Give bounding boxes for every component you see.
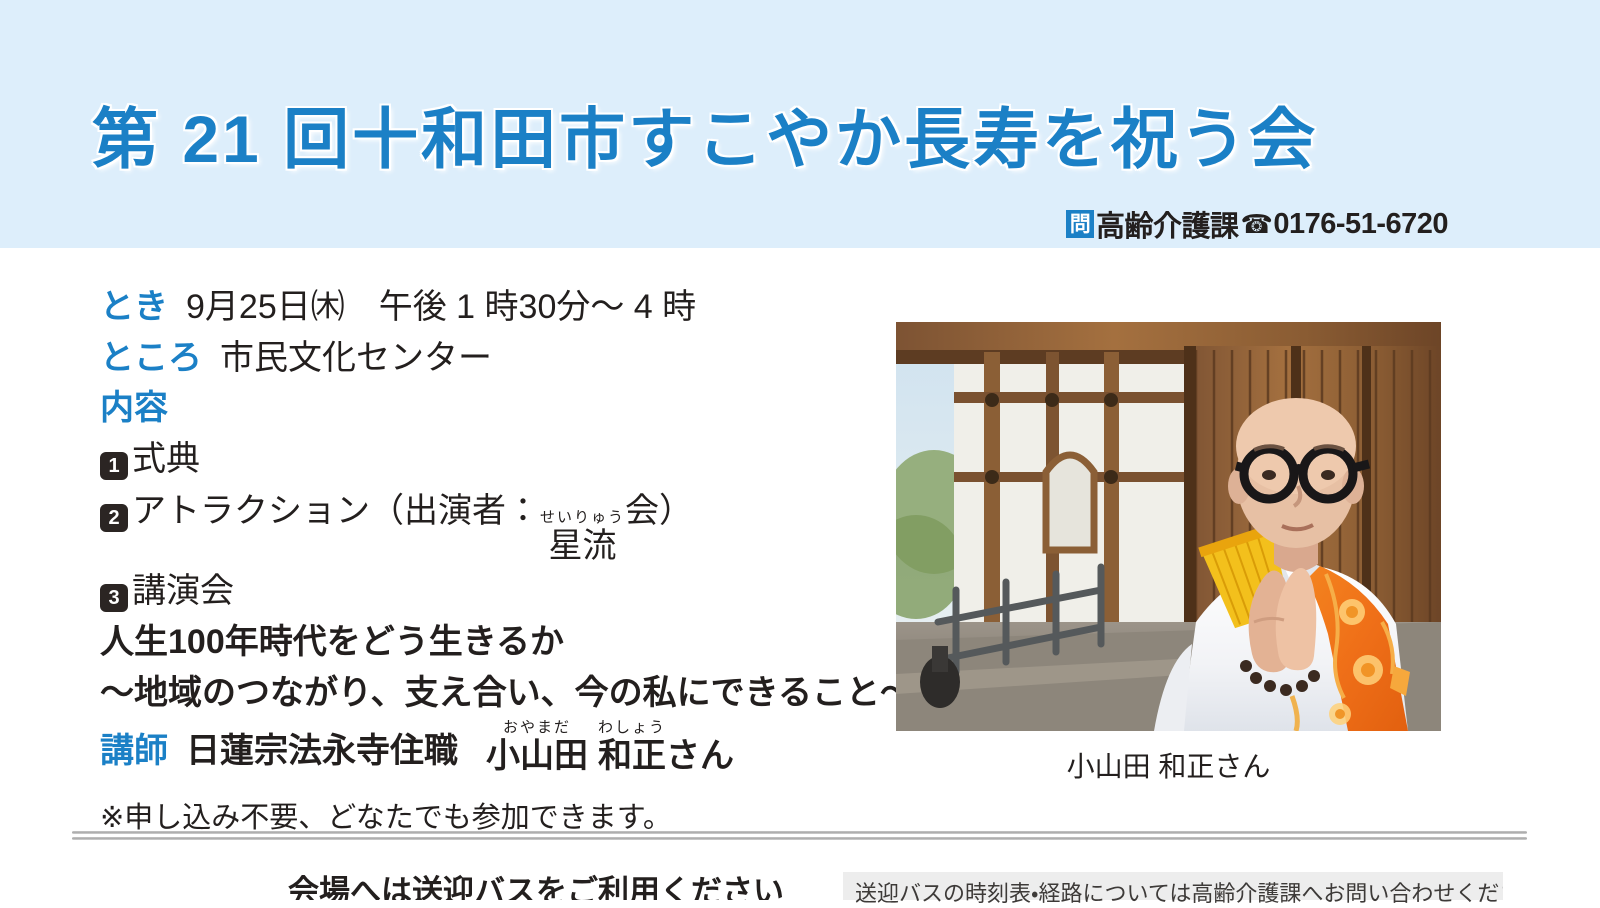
speaker-photo <box>896 322 1441 731</box>
where-label: ところ <box>100 333 202 384</box>
program-item-3: 3 講演会 <box>100 566 890 618</box>
number-badge-3: 3 <box>100 584 128 612</box>
speaker-label: 講師 <box>100 727 168 776</box>
speaker-affiliation: 日蓮宗法永寺住職 <box>186 727 458 776</box>
speaker-givenname-group: わしょう 和正 <box>598 720 666 776</box>
shuttle-bus-heading: 会場へは送迎バスをご利用ください <box>288 866 784 900</box>
number-badge-2: 2 <box>100 504 128 532</box>
bottom-info-panel-text: 送迎バスの時刻表・経路については高齢介護課へお問い合わせください <box>843 872 1503 908</box>
divider-rule-top <box>72 831 1527 834</box>
header-band: 第 21 回十和田市すこやか長寿を祝う会 問 高齢介護課 ☎ 0176-51-6… <box>0 0 1600 248</box>
program-item-3-text: 講演会 <box>132 566 234 618</box>
page-title: 第 21 回十和田市すこやか長寿を祝う会 <box>92 86 1318 182</box>
program-item-2: 2 アトラクション（出演者： せいりゅう 星流 会） <box>100 486 890 566</box>
speaker-photo-block: 小山田 和正さん <box>896 322 1441 785</box>
program-item-2-ruby-base: 星流 <box>549 526 617 566</box>
speaker-photo-illustration <box>896 322 1441 731</box>
program-item-1: 1 式典 <box>100 434 890 486</box>
event-details-column: とき 9月25日㈭ 午後 1 時30分〜 4 時 ところ 市民文化センター 内容… <box>100 282 890 839</box>
speaker-surname: 小山田 <box>486 736 588 776</box>
when-value: 9月25日㈭ 午後 1 時30分〜 4 時 <box>186 282 696 333</box>
program-item-2-ruby-group: せいりゅう 星流 <box>540 510 625 566</box>
lecture-title-line-2: 〜地域のつながり、支え合い、今の私にできること〜 <box>100 668 890 718</box>
photo-caption: 小山田 和正さん <box>896 745 1441 785</box>
detail-row-when: とき 9月25日㈭ 午後 1 時30分〜 4 時 <box>100 282 890 333</box>
section-divider <box>72 831 1527 840</box>
when-label: とき <box>100 282 168 333</box>
speaker-row: 講師 日蓮宗法永寺住職 おやまだ 小山田 わしょう 和正 さん <box>100 720 890 776</box>
speaker-honorific: さん <box>666 736 734 776</box>
speaker-givenname: 和正 <box>598 736 666 776</box>
bottom-info-panel: 送迎バスの時刻表・経路については高齢介護課へお問い合わせください <box>843 872 1503 900</box>
program-item-1-text: 式典 <box>132 434 200 486</box>
where-value: 市民文化センター <box>220 333 492 384</box>
number-badge-1: 1 <box>100 452 128 480</box>
telephone-icon: ☎ <box>1241 209 1273 240</box>
speaker-surname-group: おやまだ 小山田 <box>486 720 588 776</box>
program-heading: 内容 <box>100 383 890 434</box>
program-item-2-text-before: アトラクション（出演者： <box>132 486 540 538</box>
speaker-surname-reading: おやまだ <box>503 720 571 735</box>
detail-row-where: ところ 市民文化センター <box>100 333 890 384</box>
contact-department: 高齢介護課 <box>1096 203 1239 245</box>
contact-phone-number: 0176-51-6720 <box>1273 208 1448 241</box>
divider-rule-bottom <box>72 837 1527 840</box>
speaker-givenname-reading: わしょう <box>598 720 666 735</box>
inquiry-tag-icon: 問 <box>1066 210 1094 238</box>
program-item-2-text-after: 会） <box>625 486 693 538</box>
lecture-title-line-1: 人生100年時代をどう生きるか <box>100 617 890 667</box>
contact-line: 問 高齢介護課 ☎ 0176-51-6720 <box>1066 203 1448 245</box>
program-item-2-ruby-reading: せいりゅう <box>540 510 625 525</box>
